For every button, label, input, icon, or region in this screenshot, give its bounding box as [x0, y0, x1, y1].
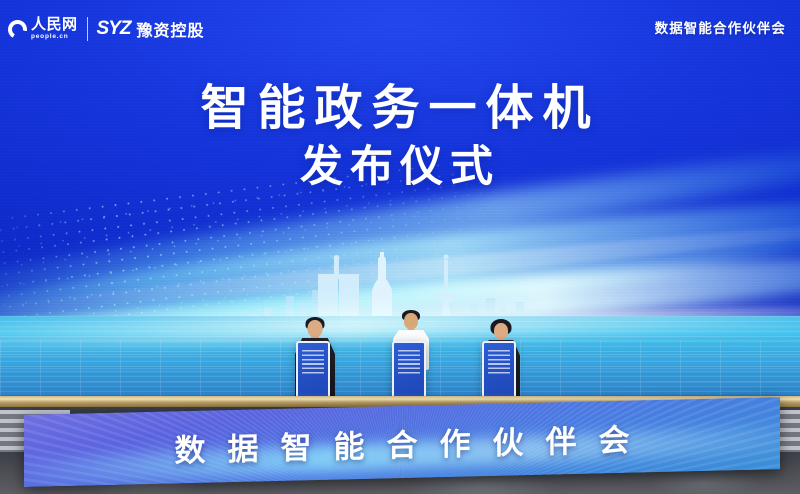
people-cn-logo: 人民网 people.cn — [8, 17, 78, 41]
people-cn-name: 人民网 — [31, 17, 78, 32]
people-cn-domain: people.cn — [31, 34, 78, 41]
main-title-block: 智能政务一体机 发布仪式 — [0, 84, 800, 192]
header-logo-bar: 人民网 people.cn SYZ 豫资控股 — [8, 12, 204, 46]
syz-logo: SYZ 豫资控股 — [97, 17, 205, 41]
title-line-1: 智能政务一体机 — [0, 84, 800, 135]
people-cn-swoosh-icon — [8, 20, 27, 39]
event-name-tag: 数据智能合作伙伴会 — [655, 17, 786, 37]
kiosk-label-text — [398, 350, 420, 376]
event-stage-screenshot: 人民网 people.cn SYZ 豫资控股 数据智能合作伙伴会 智能政务一体机… — [0, 0, 800, 494]
syz-company-name: 豫资控股 — [136, 17, 204, 41]
title-line-2: 发布仪式 — [0, 143, 800, 192]
kiosk-label-text — [488, 350, 510, 376]
led-video-wall: 人民网 people.cn SYZ 豫资控股 数据智能合作伙伴会 智能政务一体机… — [0, 0, 800, 400]
participant-right — [478, 319, 524, 400]
participant-center-kiosk[interactable] — [392, 341, 426, 400]
participant-left-kiosk[interactable] — [296, 341, 330, 400]
syz-monogram-icon: SYZ — [97, 18, 131, 40]
participants-layer — [0, 255, 800, 400]
kiosk-label-text — [302, 350, 324, 376]
participant-center — [388, 310, 434, 400]
participant-right-kiosk[interactable] — [482, 341, 516, 400]
logo-divider — [87, 17, 88, 41]
participant-left — [292, 317, 338, 400]
